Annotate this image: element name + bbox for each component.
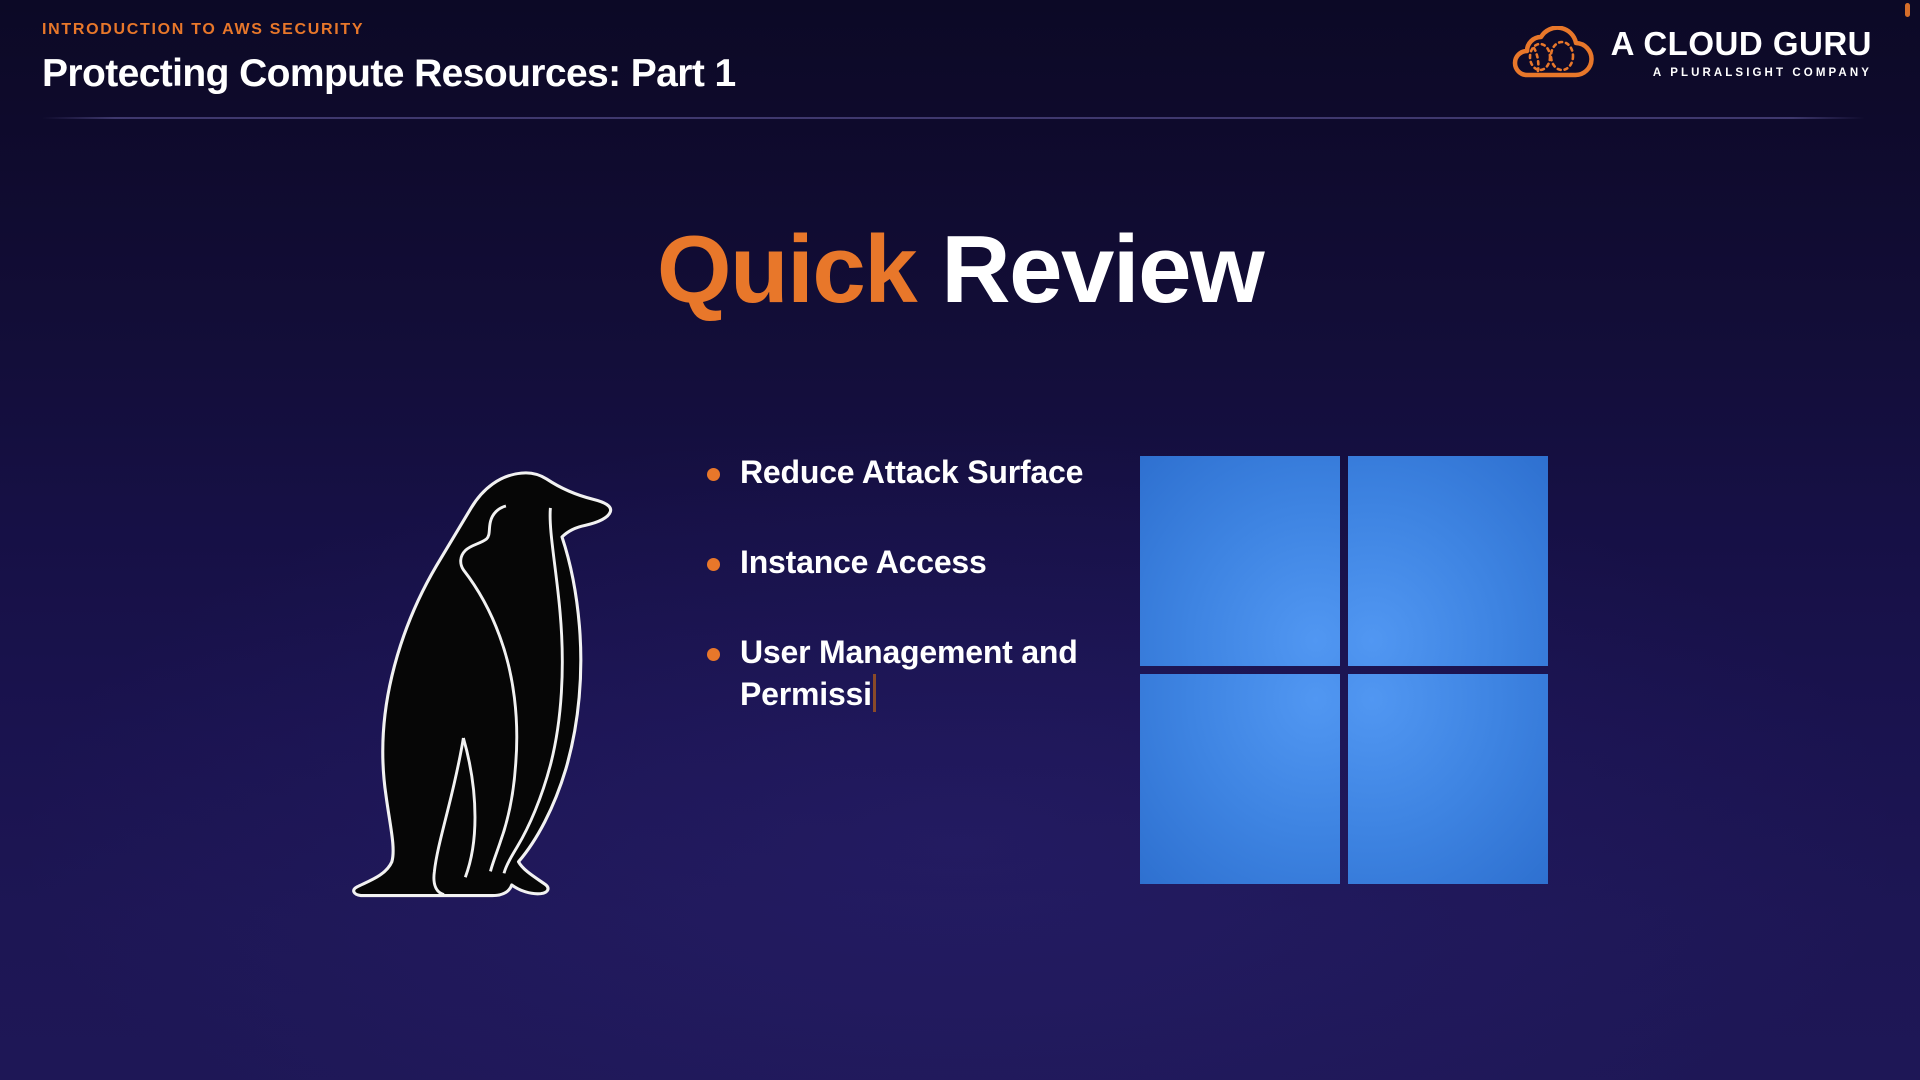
brand-name: A CLOUD GURU [1611,27,1872,62]
slide-canvas: INTRODUCTION TO AWS SECURITY Protecting … [0,0,1920,1080]
course-eyebrow-label: INTRODUCTION TO AWS SECURITY [42,22,736,38]
slide-heading-plain: Review [916,216,1263,323]
slide-body: Reduce Attack Surface Instance Access Us… [0,440,1920,920]
bullet-dot-icon [707,648,720,661]
list-item-label: User Management and Permissi [740,634,1078,712]
list-item: Reduce Attack Surface [700,452,1100,494]
windows-pane-top-right [1348,456,1548,666]
windows-pane-top-left [1140,456,1340,666]
windows-pane-bottom-left [1140,674,1340,884]
list-item: Instance Access [700,542,1100,584]
progress-indicator [1905,3,1910,17]
list-item: User Management and Permissi [700,632,1100,716]
bullet-dot-icon [707,468,720,481]
bullet-dot-icon [707,558,720,571]
penguin-icon [330,450,620,910]
brand-tagline: A PLURALSIGHT COMPANY [1653,68,1872,80]
page-title: Protecting Compute Resources: Part 1 [42,54,736,93]
slide-heading-accent: Quick [657,216,916,323]
windows-logo-icon [1140,456,1548,888]
bullet-list: Reduce Attack Surface Instance Access Us… [700,452,1100,716]
text-caret [873,674,876,712]
brand-wordmark: A CLOUD GURU A PLURALSIGHT COMPANY [1611,27,1872,79]
list-item-label: Instance Access [740,544,987,580]
slide-heading: Quick Review [0,222,1920,318]
slide-header: INTRODUCTION TO AWS SECURITY Protecting … [0,0,1920,118]
header-text-group: INTRODUCTION TO AWS SECURITY Protecting … [42,22,736,93]
windows-pane-bottom-right [1348,674,1548,884]
brand-logo: A CLOUD GURU A PLURALSIGHT COMPANY [1507,26,1872,80]
cloud-icon [1507,26,1595,80]
list-item-label: Reduce Attack Surface [740,454,1083,490]
header-divider [42,117,1865,119]
